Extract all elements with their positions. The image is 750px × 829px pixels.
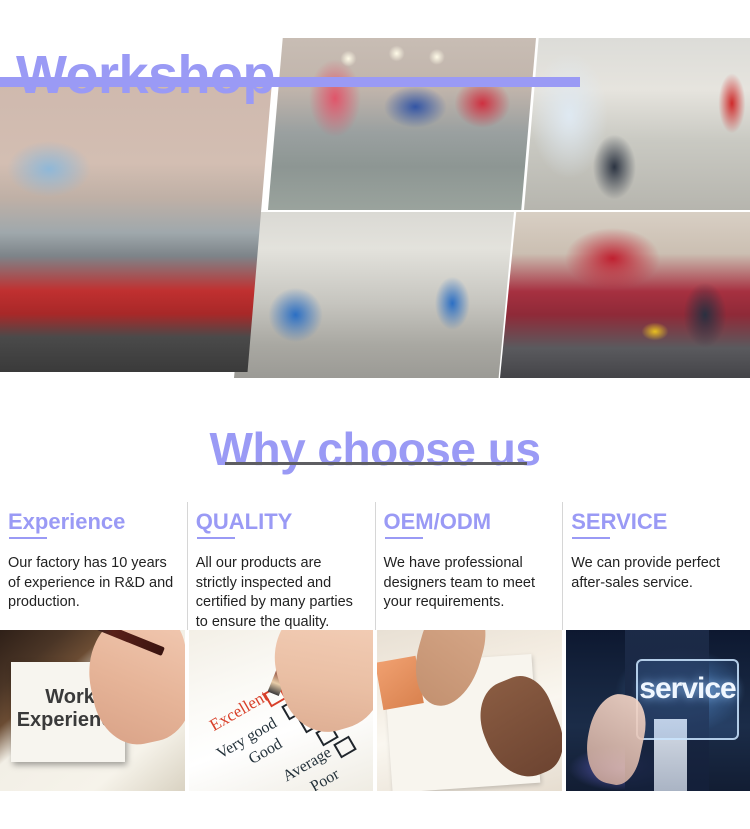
feature-heading: Experience [8, 510, 177, 534]
feature-heading-rule [385, 537, 423, 539]
notepad-text-line-1: Work [45, 686, 95, 708]
feature-photo-design-sketching-hands [377, 630, 562, 791]
feature-column-oem-odm: OEM/ODM We have professional designers t… [375, 502, 563, 630]
feature-column-quality: QUALITY All our products are strictly in… [187, 502, 375, 630]
why-choose-us-underline [225, 462, 527, 465]
feature-heading-rule [9, 537, 47, 539]
feature-body: All our products are strictly inspected … [196, 554, 365, 633]
feature-heading-rule [197, 537, 235, 539]
feature-heading-rule [572, 537, 610, 539]
feature-photo-service-touchscreen: service [566, 630, 750, 791]
workshop-photo-laser-cutting-machine-operator [0, 82, 272, 372]
feature-photo-row: Work Experience Excellent Very good Good… [0, 630, 750, 791]
feature-column-service: SERVICE We can provide perfect after-sal… [562, 502, 750, 630]
service-screen-label: service [639, 672, 735, 706]
survey-checkbox [333, 736, 357, 759]
workshop-photo-assembly-line [524, 38, 750, 210]
feature-photo-work-experience-notepad: Work Experience [0, 630, 185, 791]
features-row: Experience Our factory has 10 years of e… [0, 502, 750, 630]
feature-body: We can provide perfect after-sales servi… [571, 554, 740, 594]
feature-heading: QUALITY [196, 510, 365, 534]
feature-body: Our factory has 10 years of experience i… [8, 554, 177, 614]
feature-column-experience: Experience Our factory has 10 years of e… [0, 502, 187, 630]
feature-heading: OEM/ODM [384, 510, 553, 534]
why-choose-us-title: Why choose us [0, 422, 750, 476]
workshop-photo-workshop-machines [268, 38, 536, 210]
workshop-title: Workshop [16, 44, 275, 106]
workshop-photo-press-brake-operator [500, 212, 750, 378]
why-choose-us-section: Why choose us [0, 382, 750, 502]
feature-photo-quality-survey-checklist: Excellent Very good Good Average Poor [189, 630, 374, 791]
feature-heading: SERVICE [571, 510, 740, 534]
workshop-section: Workshop [0, 0, 750, 382]
feature-body: We have professional designers team to m… [384, 554, 553, 614]
workshop-photo-shop-floor [234, 212, 514, 378]
